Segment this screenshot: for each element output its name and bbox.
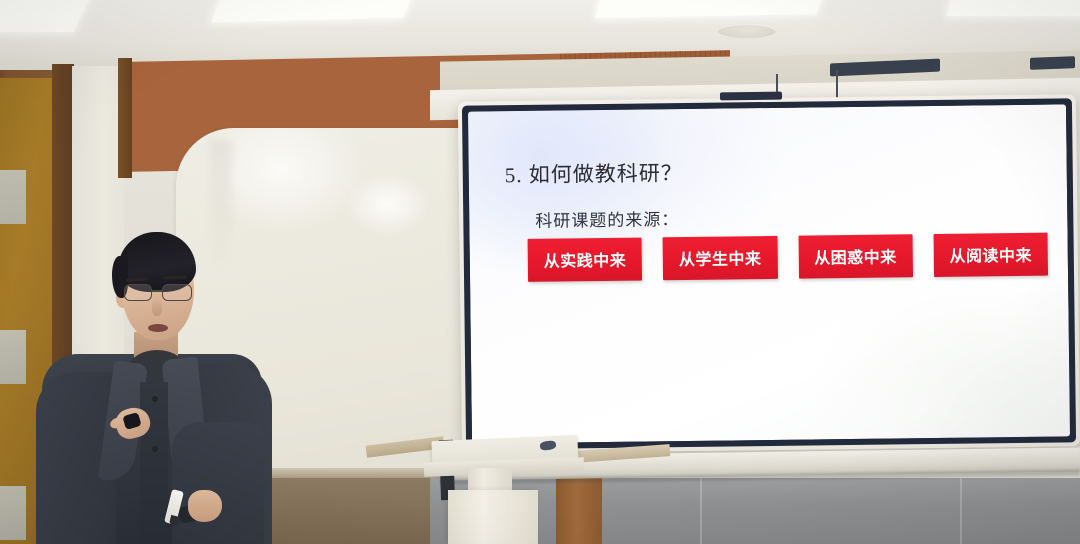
- jacket-button: [152, 396, 158, 402]
- slide-subtitle: 科研课题的来源：: [535, 205, 679, 232]
- glasses-icon: [122, 284, 196, 301]
- ceiling-speaker-icon: [718, 24, 776, 38]
- wood-pillar: [556, 478, 602, 544]
- door-glass-panel: [0, 170, 26, 224]
- presenter-arm-right: [172, 422, 264, 544]
- glasses-lens: [124, 284, 152, 301]
- door-glass-panel: [0, 486, 26, 540]
- glasses-lens: [162, 284, 192, 301]
- slide-surface[interactable]: 5. 如何做教科研？ 科研课题的来源： 从实践中来 从学生中来 从困惑中来 从阅…: [468, 104, 1070, 443]
- source-chip-1[interactable]: 从实践中来: [528, 238, 643, 282]
- slide-title: 5. 如何做教科研？: [505, 157, 683, 189]
- classroom-photo: 5. 如何做教科研？ 科研课题的来源： 从实践中来 从学生中来 从困惑中来 从阅…: [0, 0, 1080, 544]
- ceiling-light-panel: [595, 0, 825, 18]
- presenter-hand-right: [188, 490, 222, 522]
- jacket-button: [152, 446, 158, 452]
- presenter-mouth: [148, 324, 168, 332]
- podium-body: [448, 490, 538, 544]
- ceiling-light-panel: [0, 0, 91, 32]
- wall-seam: [700, 478, 702, 544]
- screen-glare: [808, 266, 1070, 444]
- wall-trim: [118, 58, 132, 178]
- door-glass-panel: [0, 330, 26, 384]
- source-chip-4[interactable]: 从阅读中来: [933, 233, 1048, 277]
- source-chip-3[interactable]: 从困惑中来: [798, 234, 913, 278]
- smart-screen[interactable]: 5. 如何做教科研？ 科研课题的来源： 从实践中来 从学生中来 从困惑中来 从阅…: [458, 94, 1080, 454]
- ceiling-light-panel: [211, 0, 414, 22]
- presenter-hair: [118, 232, 196, 292]
- source-chip-2[interactable]: 从学生中来: [663, 236, 778, 280]
- ceiling-light-panel: [946, 0, 1080, 16]
- presenter: [42, 232, 262, 544]
- screen-bezel: 5. 如何做教科研？ 科研课题的来源： 从实践中来 从学生中来 从困惑中来 从阅…: [462, 98, 1076, 449]
- source-chip-row: 从实践中来 从学生中来 从困惑中来 从阅读中来: [528, 233, 1048, 282]
- wall-seam: [960, 478, 962, 544]
- ceiling-mount-icon: [1030, 56, 1075, 70]
- screen-sensor-bar: [720, 92, 782, 101]
